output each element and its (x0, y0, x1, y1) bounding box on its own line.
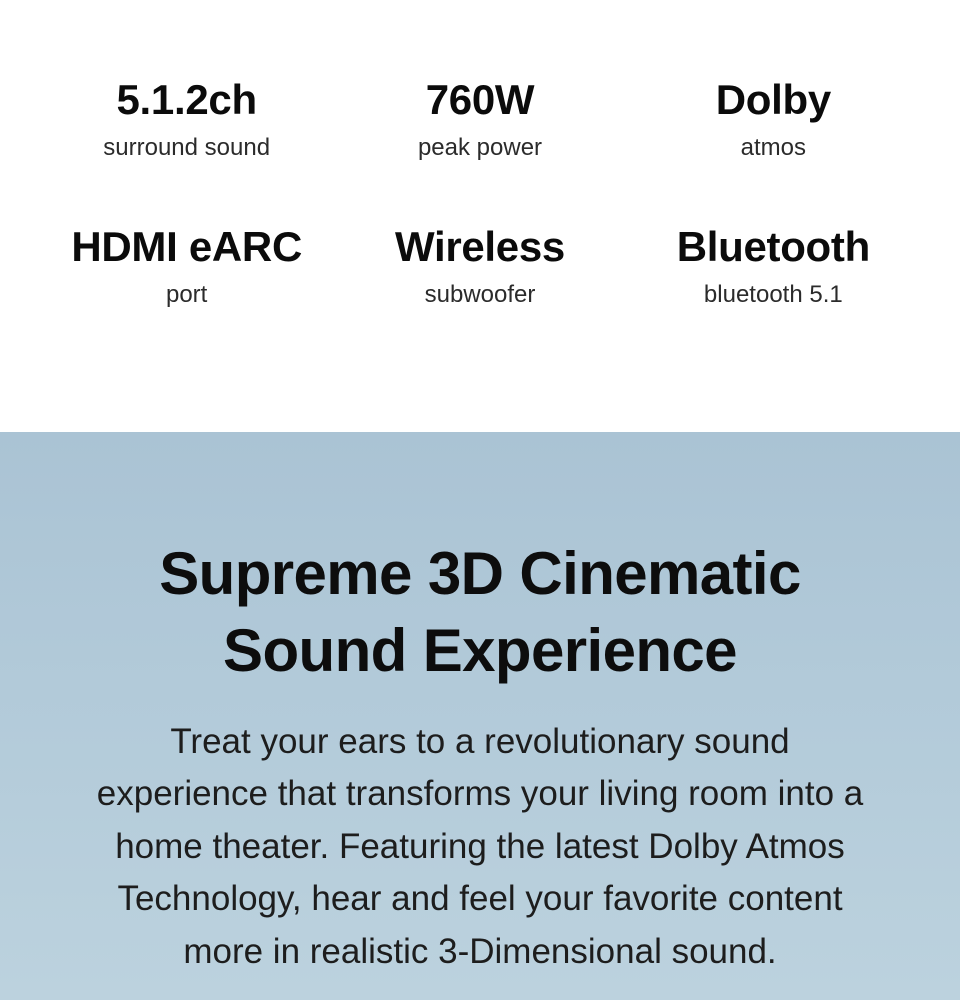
spec-item-bluetooth: Bluetooth bluetooth 5.1 (627, 223, 920, 310)
spec-label: atmos (741, 133, 806, 163)
product-detail-page: 5.1.2ch surround sound 760W peak power D… (0, 0, 960, 1000)
hero-description: Treat your ears to a revolutionary sound… (85, 716, 875, 979)
spec-value: Dolby (716, 76, 831, 123)
spec-label: port (166, 280, 207, 310)
spec-value: 5.1.2ch (117, 76, 257, 123)
spec-label: subwoofer (425, 280, 536, 310)
spec-label: peak power (418, 133, 542, 163)
spec-item-hdmi-earc: HDMI eARC port (40, 223, 333, 310)
hero-title: Supreme 3D Cinematic Sound Experience (85, 536, 875, 690)
spec-value: Bluetooth (677, 223, 870, 270)
specifications-grid: 5.1.2ch surround sound 760W peak power D… (40, 76, 920, 310)
spec-item-wireless-subwoofer: Wireless subwoofer (333, 223, 626, 310)
hero-section: Supreme 3D Cinematic Sound Experience Tr… (0, 432, 960, 1000)
spec-item-peak-power: 760W peak power (333, 76, 626, 163)
specifications-section: 5.1.2ch surround sound 760W peak power D… (0, 0, 960, 432)
spec-value: Wireless (395, 223, 565, 270)
spec-label: bluetooth 5.1 (704, 280, 843, 310)
spec-item-dolby-atmos: Dolby atmos (627, 76, 920, 163)
spec-item-surround-sound: 5.1.2ch surround sound (40, 76, 333, 163)
spec-value: 760W (426, 76, 535, 123)
spec-label: surround sound (103, 133, 270, 163)
spec-value: HDMI eARC (71, 223, 302, 270)
